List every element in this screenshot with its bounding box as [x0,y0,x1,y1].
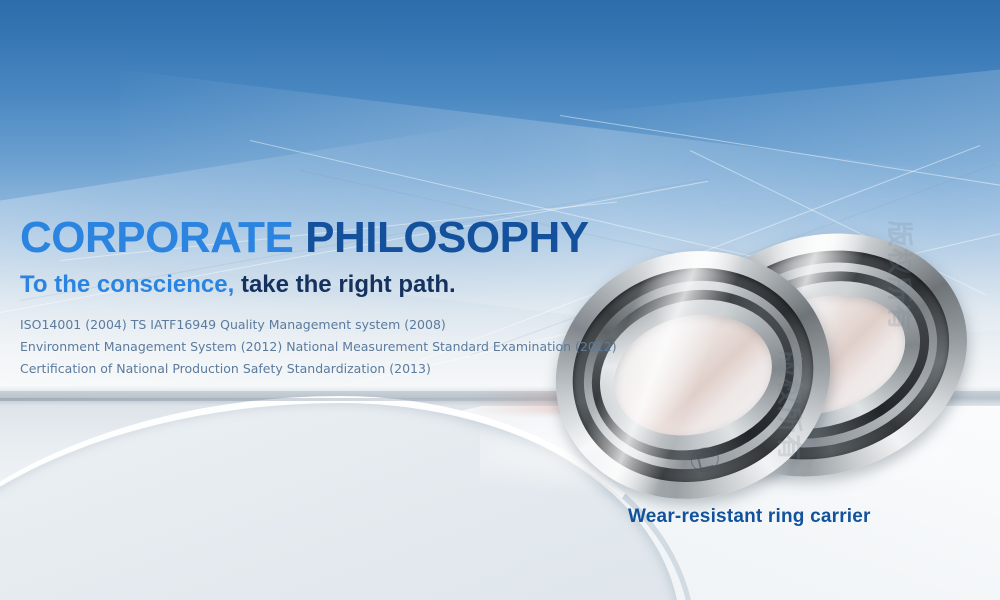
certification-line: Certification of National Production Saf… [20,358,660,380]
corporate-philosophy-banner: 版权所有 版权所有 CORPORATE PHILOSOPHY To the co… [0,0,1000,600]
plaza-rail-line [0,398,640,401]
page-title-part-1: CORPORATE [20,213,293,262]
product-caption: Wear-resistant ring carrier [628,506,871,528]
certification-line: ISO14001 (2004) TS IATF16949 Quality Man… [20,314,660,336]
headline-copy-block: CORPORATE PHILOSOPHY To the conscience, … [20,212,660,380]
page-subtitle: To the conscience, take the right path. [20,270,660,300]
page-subtitle-part-2: take the right path. [241,271,456,298]
certification-line: Environment Management System (2012) Nat… [20,336,660,358]
page-title-part-2: PHILOSOPHY [305,213,589,262]
page-title: CORPORATE PHILOSOPHY [20,212,660,264]
plaza-radial-steps [0,432,500,600]
certification-list: ISO14001 (2004) TS IATF16949 Quality Man… [20,314,660,380]
page-subtitle-part-1: To the conscience, [20,271,234,298]
